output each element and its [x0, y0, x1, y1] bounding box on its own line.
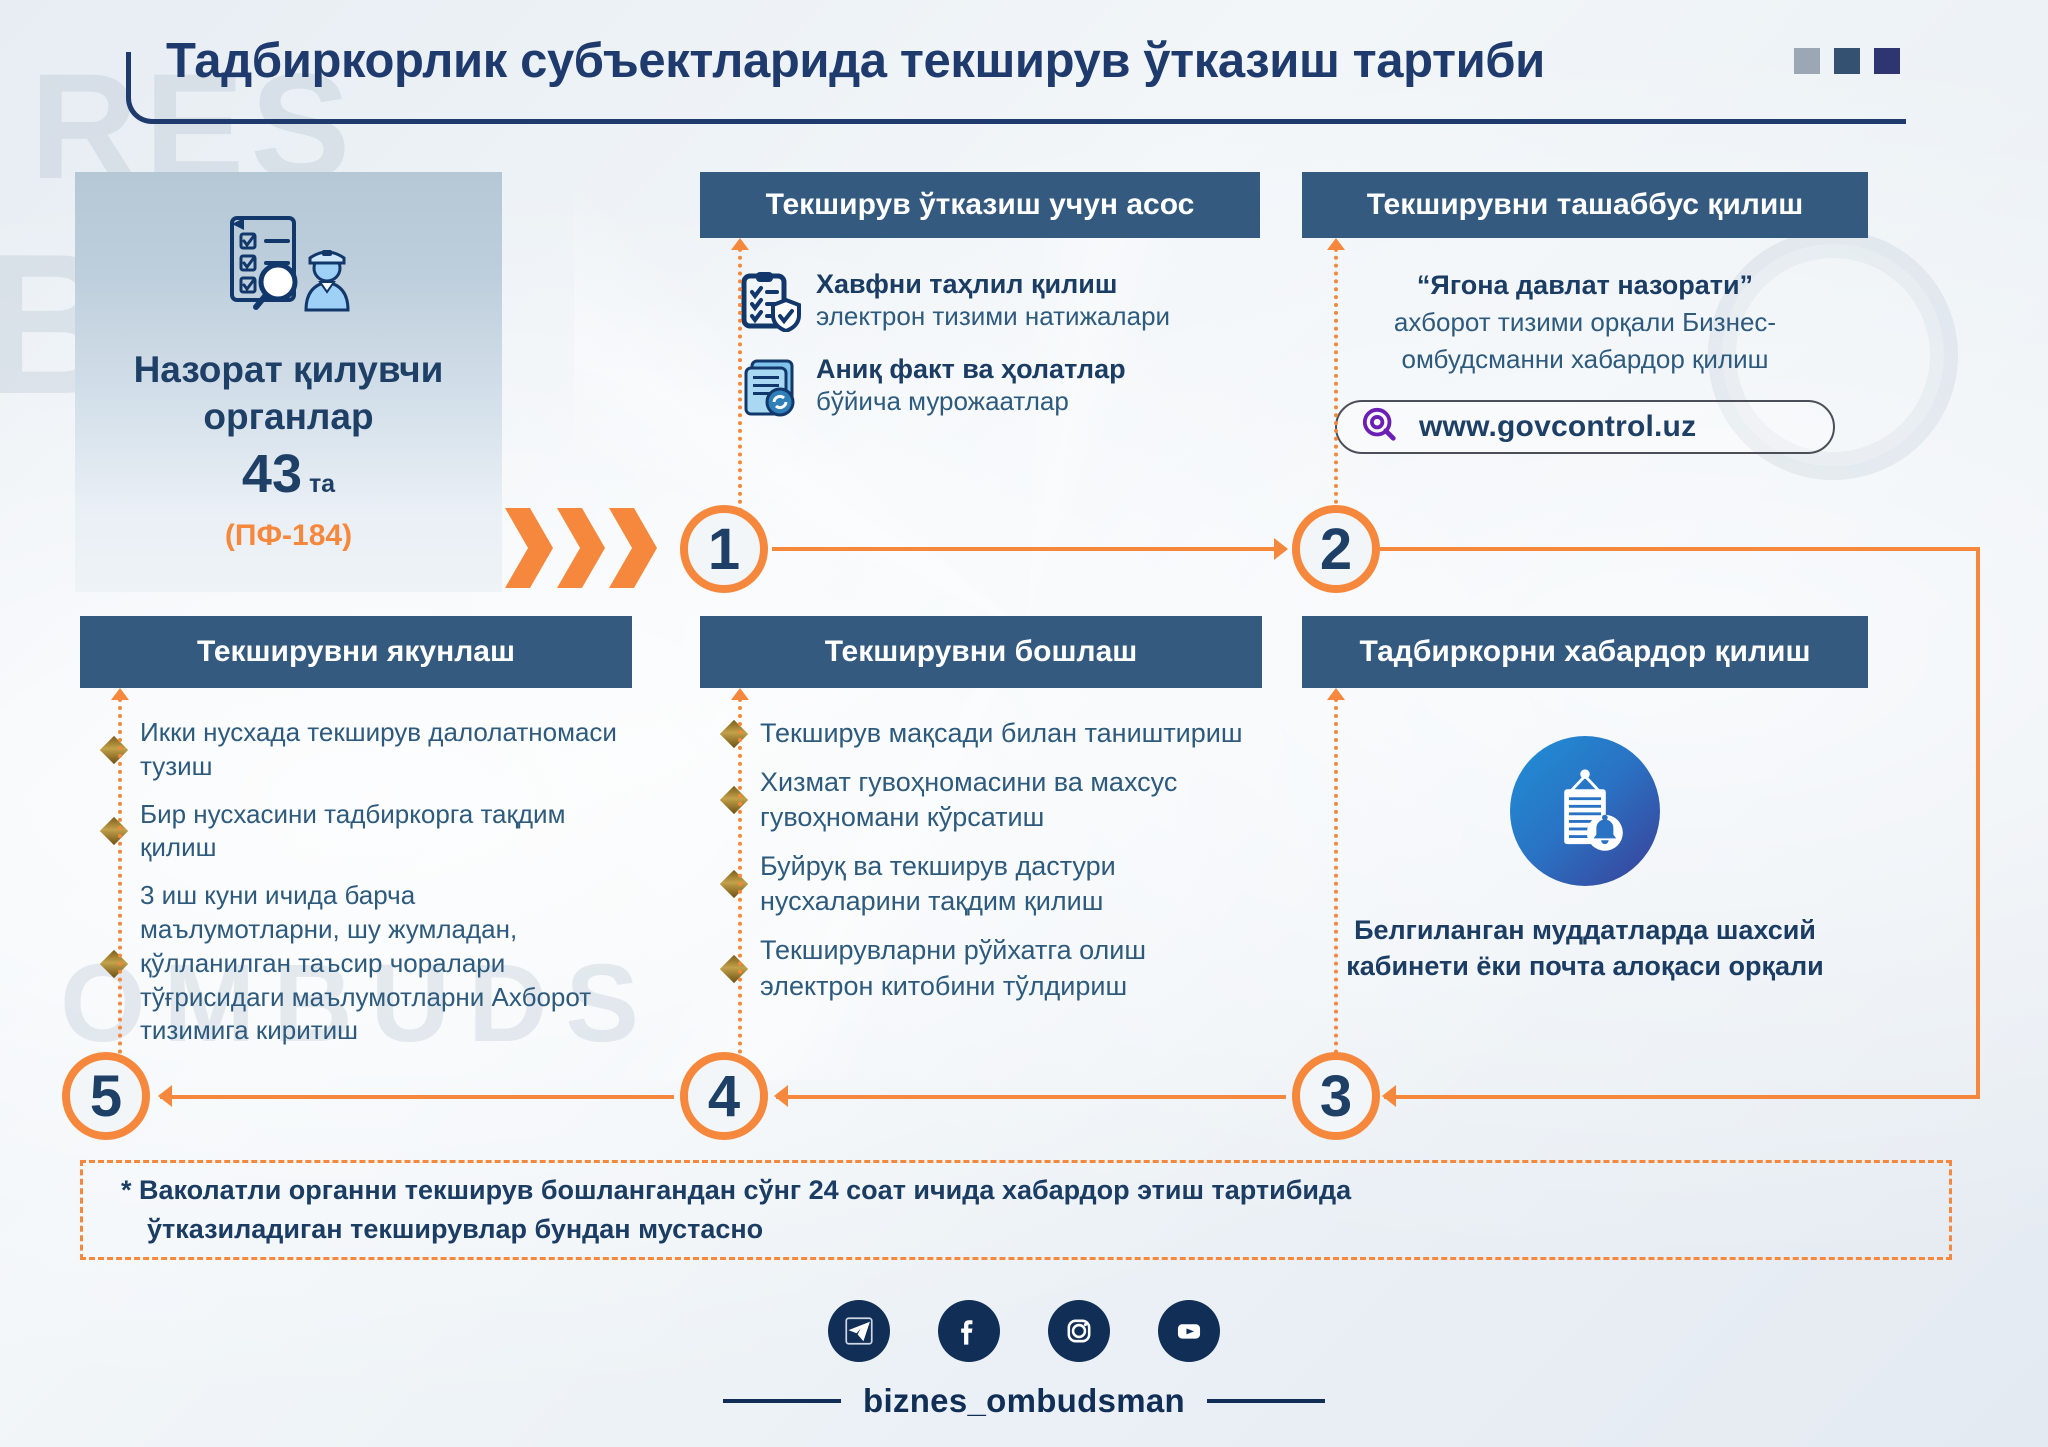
connector-start-to-step4: [738, 690, 742, 1070]
list-item-sub: электрон тизими натижалари: [816, 301, 1170, 331]
panel-notify-entrepreneur: Тадбиркорни хабардор қилиш: [1302, 616, 1868, 985]
connector-step2-right: [1380, 547, 1980, 551]
initiate-body-text: ахборот тизими орқали Бизнес-омбудсманни…: [1394, 307, 1776, 374]
list-item-label: Текширувларни рўйхатга олиш электрон кит…: [760, 933, 1252, 1003]
panel-notify-title: Тадбиркорни хабардор қилиш: [1302, 616, 1868, 688]
connector-arrow-step4: [774, 1085, 788, 1107]
initiate-system-name: “Ягона давлат назорати”: [1417, 270, 1753, 300]
list-item-label: Хизмат гувоҳномасини ва махсус гувоҳнома…: [760, 765, 1252, 835]
connector-step2-down: [1976, 547, 1980, 1099]
social-icon-row: [0, 1300, 2048, 1362]
panel-basis-body: Хавфни таҳлил қилиш электрон тизими нати…: [700, 238, 1260, 418]
list-item-label: 3 иш куни ичида барча маълумотларни, шу …: [140, 879, 622, 1048]
list-item: Хавфни таҳлил қилиш электрон тизими нати…: [700, 266, 1260, 333]
list-item-strong: Хавфни таҳлил қилиш: [816, 269, 1117, 299]
list-item: Буйруқ ва текширув дастури нусхаларини т…: [724, 849, 1252, 919]
list-item: Аниқ факт ва ҳолатлар бўйича мурожаатлар: [700, 351, 1260, 418]
hero-count: 43 та: [242, 443, 335, 505]
list-item-label: Текширув мақсади билан таништириш: [760, 716, 1243, 751]
documents-refresh-icon: [740, 355, 802, 417]
connector-arrow-basis: [731, 238, 749, 250]
decor-square-blue: [1834, 48, 1860, 74]
hero-decree-note: (ПФ-184): [225, 519, 352, 553]
list-item: Текширув мақсади билан таништириш: [724, 716, 1252, 751]
list-item-text: Аниқ факт ва ҳолатлар бўйича мурожаатлар: [816, 351, 1126, 418]
instagram-icon[interactable]: [1048, 1300, 1110, 1362]
connector-arrow-step5: [158, 1085, 172, 1107]
panel-finish-bullets: Икки нусхада текширув далолатномаси тузи…: [80, 688, 632, 1048]
connector-finish-to-step5: [118, 690, 122, 1070]
list-item-label: Бир нусхасини тадбиркорга тақдим қилиш: [140, 798, 622, 866]
list-item-label: Буйруқ ва текширув дастури нусхаларини т…: [760, 849, 1252, 919]
facebook-icon[interactable]: [938, 1300, 1000, 1362]
connector-step3-to-step4: [776, 1095, 1286, 1099]
govcontrol-url-text: www.govcontrol.uz: [1419, 410, 1696, 444]
connector-initiate-to-step2: [1334, 240, 1338, 512]
diamond-bullet-icon: [100, 817, 128, 845]
connector-arrow-step3: [1382, 1085, 1396, 1107]
notify-caption: Белгиланган муддатларда шахсий кабинети …: [1302, 912, 1868, 985]
step-circle-4: 4: [680, 1052, 768, 1140]
panel-initiate-body: “Ягона давлат назорати” ахборот тизими о…: [1302, 238, 1868, 454]
header-decor-squares: [1794, 48, 1900, 74]
list-item-label: Икки нусхада текширув далолатномаси тузи…: [140, 716, 622, 784]
inspector-checklist-icon: [214, 210, 364, 330]
panel-finish-title: Текширувни якунлаш: [80, 616, 632, 688]
social-footer: biznes_ombudsman: [0, 1300, 2048, 1420]
page-header: Тадбиркорлик субъектларида текширув ўтка…: [118, 10, 1908, 120]
connector-step4-to-step5: [160, 1095, 674, 1099]
step-circle-3: 3: [1292, 1052, 1380, 1140]
panel-start-title: Текширувни бошлаш: [700, 616, 1262, 688]
infographic-page: RES B OMBUDS Тадбиркорлик субъектларида …: [0, 0, 2048, 1447]
connector-arrow-finish: [111, 688, 129, 700]
connector-step1-to-step2: [772, 547, 1276, 551]
telegram-icon[interactable]: [828, 1300, 890, 1362]
list-item-sub: бўйича мурожаатлар: [816, 386, 1069, 416]
diamond-bullet-icon: [720, 954, 748, 982]
panel-initiate-title: Текширувни ташаббус қилиш: [1302, 172, 1868, 238]
hero-count-number: 43: [242, 444, 302, 504]
connector-arrow-notify: [1327, 688, 1345, 700]
initiate-description: “Ягона давлат назорати” ахборот тизими о…: [1302, 248, 1868, 378]
diamond-bullet-icon: [720, 870, 748, 898]
list-item: Икки нусхада текширув далолатномаси тузи…: [104, 716, 622, 784]
connector-arrow-step2: [1274, 538, 1288, 560]
list-item: 3 иш куни ичида барча маълумотларни, шу …: [104, 879, 622, 1048]
notice-document-bell-icon: [1510, 736, 1660, 886]
decor-square-navy: [1874, 48, 1900, 74]
list-item: Бир нусхасини тадбиркорга тақдим қилиш: [104, 798, 622, 866]
youtube-icon[interactable]: [1158, 1300, 1220, 1362]
panel-basis-title: Текширув ўтказиш учун асос: [700, 172, 1260, 238]
diamond-bullet-icon: [720, 719, 748, 747]
footnote-line-1: * Ваколатли органни текширув бошланганда…: [121, 1175, 1351, 1205]
hero-title: Назорат қилувчи органлар: [75, 346, 502, 441]
connector-notify-to-step3: [1334, 690, 1338, 1070]
connector-arrow-start: [731, 688, 749, 700]
social-handle: biznes_ombudsman: [863, 1382, 1185, 1420]
footnote-box: * Ваколатли органни текширув бошланганда…: [80, 1160, 1952, 1260]
step-circle-1: 1: [680, 505, 768, 593]
chevron-right-icon: [505, 508, 553, 588]
list-item-strong: Аниқ факт ва ҳолатлар: [816, 354, 1126, 384]
list-item-text: Хавфни таҳлил қилиш электрон тизими нати…: [816, 266, 1170, 333]
diamond-bullet-icon: [100, 736, 128, 764]
list-item: Хизмат гувоҳномасини ва махсус гувоҳнома…: [724, 765, 1252, 835]
chevron-right-icon: [609, 508, 657, 588]
panel-start-inspection: Текширувни бошлаш Текширув мақсади билан…: [700, 616, 1262, 1004]
panel-initiate-inspection: Текширувни ташаббус қилиш “Ягона давлат …: [1302, 172, 1868, 454]
chevron-arrows-decor: [505, 508, 657, 588]
connector-arrow-initiate: [1327, 238, 1345, 250]
govcontrol-url-pill[interactable]: www.govcontrol.uz: [1335, 400, 1835, 454]
footnote-text: * Ваколатли органни текширув бошланганда…: [121, 1171, 1351, 1249]
panel-notify-body: Белгиланган муддатларда шахсий кабинети …: [1302, 688, 1868, 985]
hero-count-unit: та: [309, 470, 335, 498]
header-bracket-rule: [126, 52, 1906, 124]
search-magnifier-icon: [1361, 406, 1399, 449]
panel-start-bullets: Текширув мақсади билан таништириш Хизмат…: [700, 688, 1262, 1004]
list-item: Текширувларни рўйхатга олиш электрон кит…: [724, 933, 1252, 1003]
decor-square-gray: [1794, 48, 1820, 74]
step-circle-5: 5: [62, 1052, 150, 1140]
panel-finish-inspection: Текширувни якунлаш Икки нусхада текширув…: [80, 616, 632, 1048]
connector-step2-to-step3: [1384, 1095, 1980, 1099]
diamond-bullet-icon: [720, 786, 748, 814]
handle-row: biznes_ombudsman: [0, 1382, 2048, 1420]
connector-basis-to-step1: [738, 240, 742, 512]
footnote-line-2: ўтказиладиган текширувлар бундан мустасн…: [121, 1210, 763, 1249]
handle-rule-right: [1207, 1399, 1325, 1403]
chevron-right-icon: [557, 508, 605, 588]
risk-analysis-clipboard-shield-icon: [740, 270, 802, 332]
handle-rule-left: [723, 1399, 841, 1403]
control-bodies-hero-panel: Назорат қилувчи органлар 43 та (ПФ-184): [75, 172, 502, 592]
diamond-bullet-icon: [100, 950, 128, 978]
panel-inspection-basis: Текширув ўтказиш учун асос: [700, 172, 1260, 418]
step-circle-2: 2: [1292, 505, 1380, 593]
